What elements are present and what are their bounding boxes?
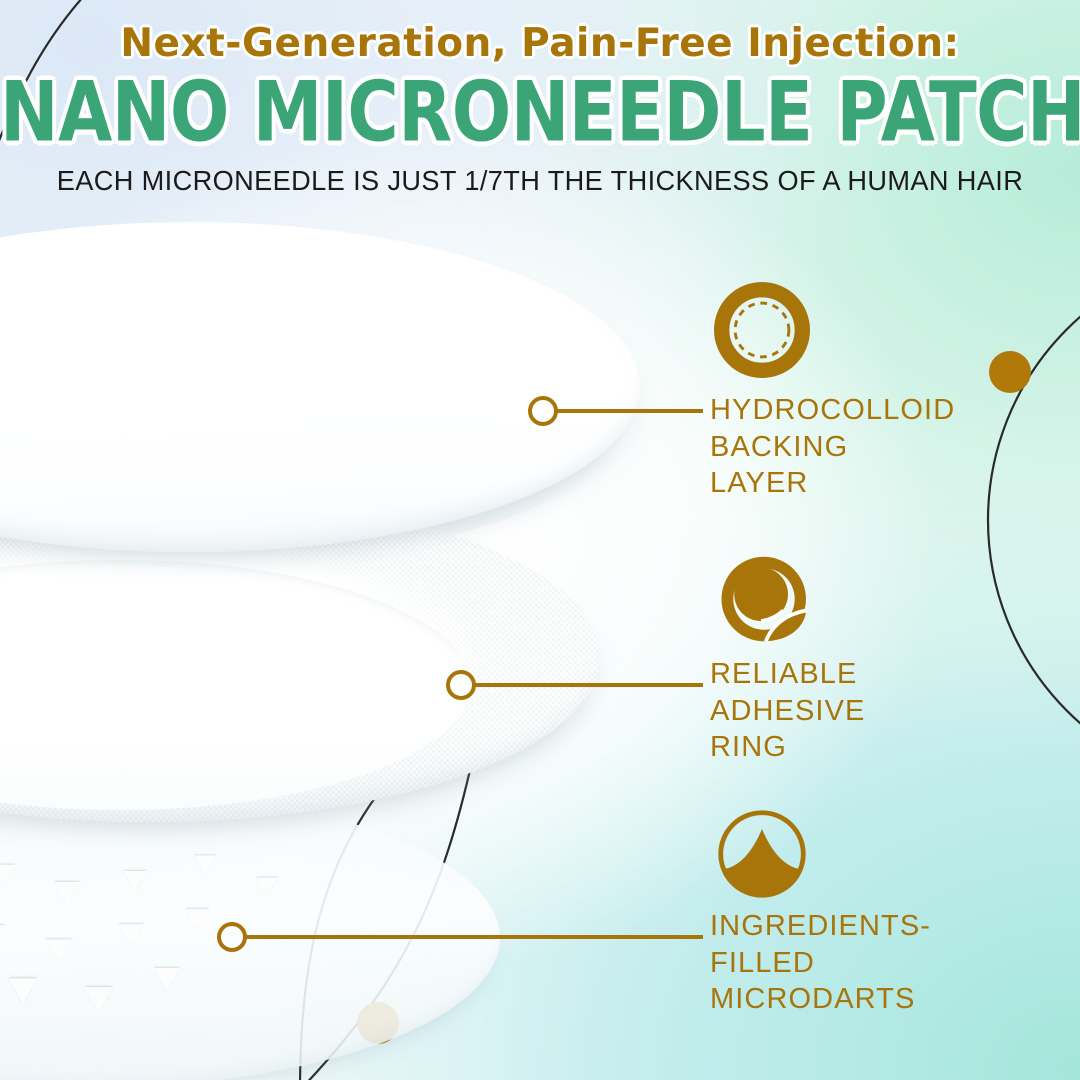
subheadline-text: EACH MICRONEEDLE IS JUST 1/7TH THE THICK… (16, 167, 1064, 195)
callout-label-backing: HYDROCOLLOID BACKING LAYER (710, 392, 955, 502)
header-block: Next-Generation, Pain-Free Injection: NA… (0, 0, 1080, 195)
callout-leader-adhesive (474, 683, 703, 687)
callout-marker-backing[interactable] (528, 396, 558, 426)
orbit-dot-right (989, 351, 1031, 393)
kicker-text: Next-Generation, Pain-Free Injection: (0, 24, 1080, 65)
callout-label-microdarts: INGREDIENTS-FILLED MICRODARTS (710, 908, 931, 1018)
dashed-ring-icon (714, 282, 810, 378)
callout-leader-backing (556, 409, 703, 413)
callout-label-adhesive: RELIABLE ADHESIVE RING (710, 656, 865, 766)
page-title: NANO MICRONEEDLE PATCH (0, 71, 1080, 154)
infographic-poster: Next-Generation, Pain-Free Injection: NA… (0, 0, 1080, 1080)
microdart-peak-circle-icon (714, 806, 810, 902)
peeling-adhesive-circle-icon (716, 551, 812, 647)
callout-marker-microdarts[interactable] (217, 922, 247, 952)
callout-leader-microdarts (245, 935, 703, 939)
orbit-dot-bottom (357, 1002, 399, 1044)
callout-marker-adhesive[interactable] (446, 670, 476, 700)
